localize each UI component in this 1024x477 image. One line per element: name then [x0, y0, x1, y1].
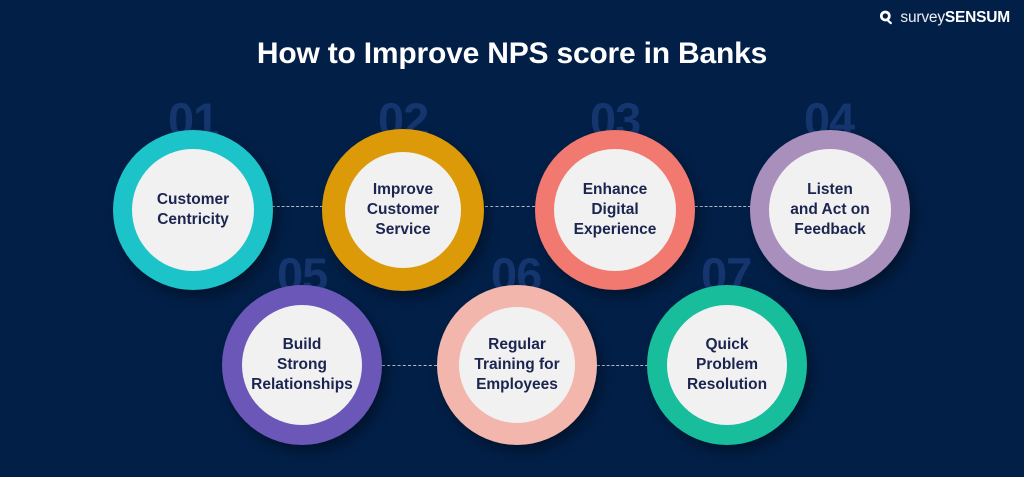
step-node-04[interactable]: Listen and Act on Feedback [750, 130, 910, 290]
step-label-04: Listen and Act on Feedback [784, 180, 876, 240]
step-label-03: Enhance Digital Experience [568, 180, 663, 240]
nps-steps-diagram: 01020304050607Customer CentricityImprove… [0, 0, 1024, 477]
step-face-04: Listen and Act on Feedback [769, 149, 891, 271]
step-face-03: Enhance Digital Experience [554, 149, 676, 271]
step-node-05[interactable]: Build Strong Relationships [222, 285, 382, 445]
step-label-06: Regular Training for Employees [468, 335, 565, 395]
step-label-07: Quick Problem Resolution [681, 335, 773, 395]
connector-02-03 [485, 206, 535, 207]
step-face-02: Improve Customer Service [345, 152, 461, 268]
step-label-01: Customer Centricity [151, 190, 235, 230]
step-node-07[interactable]: Quick Problem Resolution [647, 285, 807, 445]
step-label-05: Build Strong Relationships [245, 335, 359, 395]
step-face-01: Customer Centricity [132, 149, 254, 271]
connector-05-06 [382, 365, 437, 366]
step-face-05: Build Strong Relationships [242, 305, 362, 425]
connector-03-04 [695, 206, 751, 207]
step-node-03[interactable]: Enhance Digital Experience [535, 130, 695, 290]
step-node-01[interactable]: Customer Centricity [113, 130, 273, 290]
connector-06-07 [597, 365, 648, 366]
step-label-02: Improve Customer Service [361, 180, 445, 240]
step-face-07: Quick Problem Resolution [667, 305, 787, 425]
connector-01-02 [272, 206, 323, 207]
step-face-06: Regular Training for Employees [459, 307, 575, 423]
step-node-02[interactable]: Improve Customer Service [322, 129, 484, 291]
step-node-06[interactable]: Regular Training for Employees [437, 285, 597, 445]
